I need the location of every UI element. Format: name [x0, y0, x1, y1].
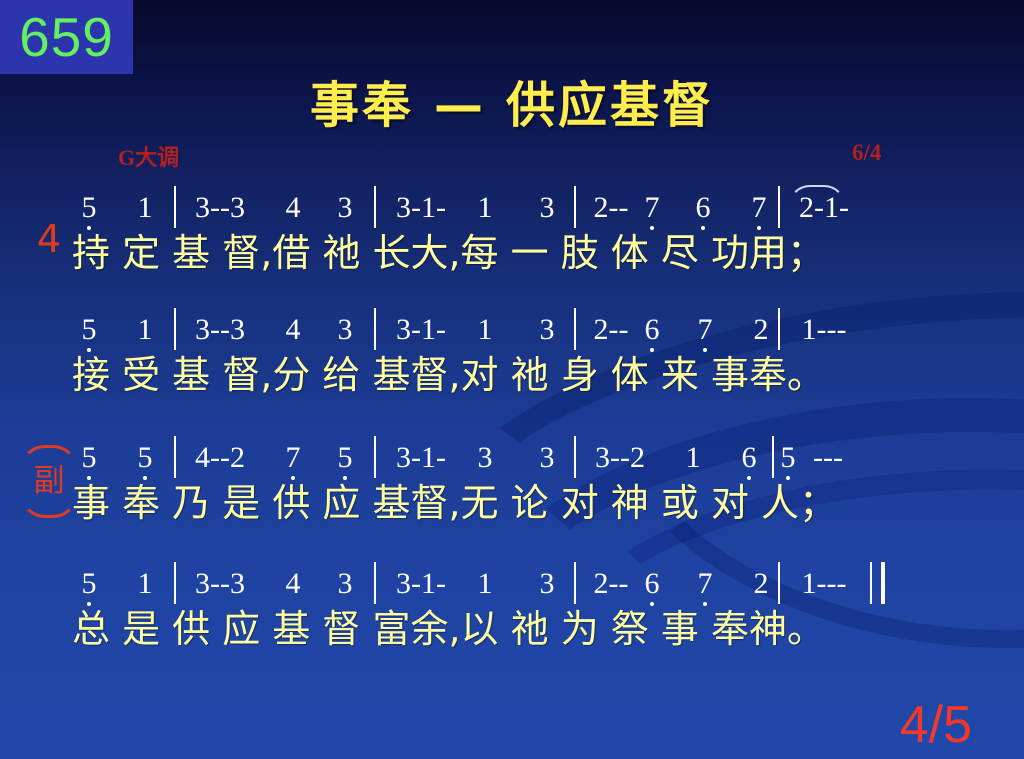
lyrics-row-4: 总 是 供 应 基 督 富余,以 祂 为 祭 事 奉神。: [72, 598, 825, 653]
tie-arc: [788, 185, 846, 207]
lyrics-row-2: 接 受 基 督,分 给 基督,对 祂 身 体 来 事奉。: [72, 344, 825, 399]
hymn-number: 659: [19, 10, 114, 65]
hymn-number-badge: 659: [0, 0, 133, 74]
lyrics-row-3: 事 奉 乃 是 供 应 基督,无 论 对 神 或 对 人；: [72, 472, 837, 527]
key-signature: G大调: [118, 140, 179, 172]
verse-marker-1: 4: [18, 220, 80, 258]
chorus-marker: 副: [18, 466, 80, 497]
chorus-bracket-top: [20, 445, 78, 470]
page-title: 事奉 — 供应基督: [0, 66, 1024, 137]
hymn-slide: 659 事奉 — 供应基督 G大调 6/4 4 513--3433-1-132-…: [0, 0, 1024, 759]
chorus-bracket-bottom: [20, 493, 78, 518]
lyrics-row-1: 持 定 基 督,借 祂 长大,每 一 肢 体 尽 功用；: [72, 222, 825, 277]
time-signature: 6/4: [852, 140, 881, 166]
page-counter: 4/5: [900, 699, 972, 751]
final-double-barline: [870, 562, 885, 604]
